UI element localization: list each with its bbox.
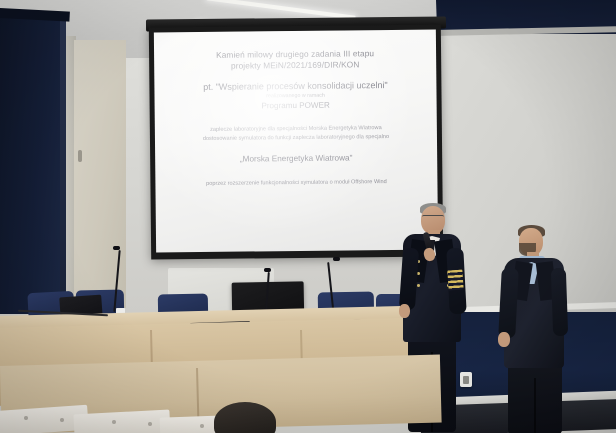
door-handle-icon[interactable] bbox=[78, 150, 82, 162]
bench-fastener bbox=[200, 424, 204, 428]
lecture-hall-photo: Kamień milowy drugiego zadania III etapu… bbox=[0, 0, 616, 433]
bench-fastener bbox=[112, 420, 116, 424]
microphone-head-icon bbox=[264, 268, 271, 272]
presentation-slide: Kamień milowy drugiego zadania III etapu… bbox=[154, 30, 438, 253]
bench-2[interactable] bbox=[73, 410, 170, 433]
projection-screen-frame: Kamień milowy drugiego zadania III etapu… bbox=[149, 24, 443, 259]
bench-fastener bbox=[24, 416, 28, 420]
slide-line-9: poprzez rozszerzenie funkcjonalności sym… bbox=[169, 178, 423, 188]
speaker-uniform-left-hand bbox=[399, 304, 410, 318]
power-outlet bbox=[460, 372, 472, 387]
bench-fastener bbox=[148, 422, 152, 426]
projection-screen: Kamień milowy drugiego zadania III etapu… bbox=[154, 30, 438, 253]
microphone-head-icon bbox=[113, 246, 120, 250]
speaker-suit-right-arm bbox=[551, 268, 568, 336]
navy-column bbox=[0, 14, 64, 314]
bench-fastener bbox=[60, 418, 64, 422]
microphone-head-icon bbox=[333, 257, 340, 261]
glasses-icon bbox=[422, 215, 444, 220]
trouser-crease bbox=[534, 378, 536, 433]
gold-rank-stripes bbox=[447, 270, 463, 291]
speaker-suit-hand bbox=[498, 332, 510, 347]
